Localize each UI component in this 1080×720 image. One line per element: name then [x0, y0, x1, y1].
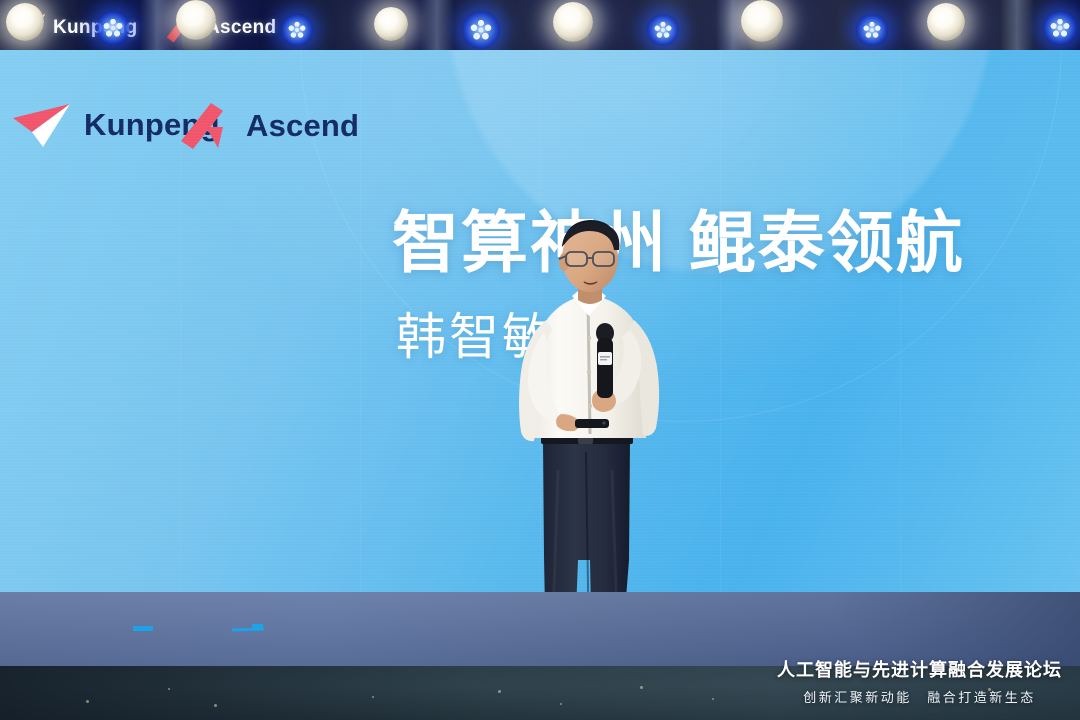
stage-floor	[0, 592, 1080, 666]
floor-tape-mark	[133, 626, 153, 631]
spotlight-white	[374, 7, 408, 41]
led-wash-light-blue	[462, 11, 500, 49]
spotlight-white	[6, 3, 44, 41]
screen-logo-ascend-label: Ascend	[246, 108, 359, 144]
event-title: 人工智能与先进计算融合发展论坛	[777, 656, 1062, 682]
floor-tape-mark	[252, 624, 263, 629]
spotlight-white	[741, 0, 783, 42]
ascend-a-icon	[180, 102, 234, 150]
stage-photo: Kunpeng Ascend	[0, 0, 1080, 720]
led-wash-light-blue	[856, 14, 888, 46]
spotlight-white	[176, 0, 216, 40]
kunpeng-bird-icon	[10, 102, 72, 148]
led-wash-light-blue	[647, 14, 679, 46]
event-branding-lockup: 人工智能与先进计算融合发展论坛 创新汇聚新动能 融合打造新生态	[777, 656, 1062, 706]
event-subtitle: 创新汇聚新动能 融合打造新生态	[777, 687, 1062, 706]
screen-logo-ascend: Ascend	[180, 102, 359, 150]
backdrop-logo-ascend-label: Ascend	[206, 17, 276, 39]
led-wash-light-blue	[281, 14, 313, 46]
backdrop-pillar	[420, 0, 454, 50]
spotlight-white	[553, 2, 593, 42]
backdrop-pillar	[1000, 0, 1034, 50]
stage-truss-band: Kunpeng Ascend	[0, 0, 1080, 50]
spotlight-white	[927, 3, 965, 41]
led-wash-light-blue	[1043, 11, 1077, 45]
led-wash-light-blue	[96, 11, 130, 45]
presentation-main-title: 智算神州 鲲泰领航	[392, 210, 965, 277]
presentation-speaker-name: 韩智敏	[396, 312, 555, 362]
